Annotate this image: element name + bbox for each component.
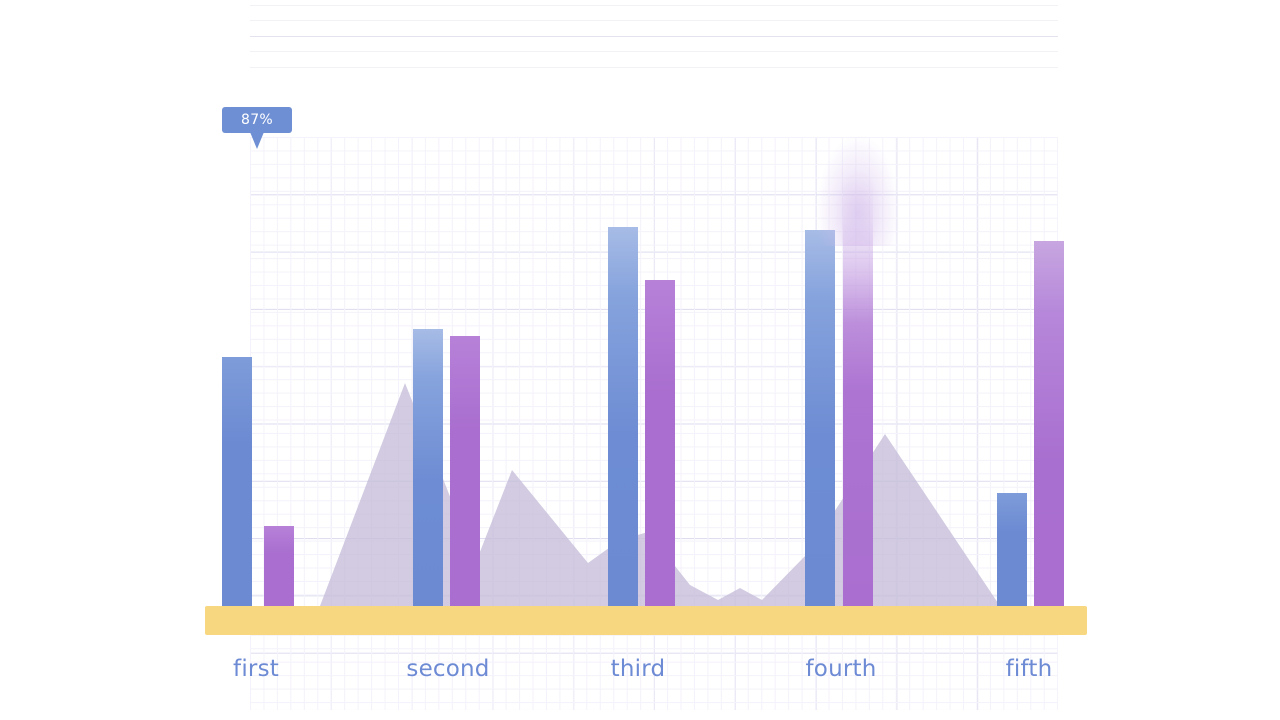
x-axis-label-first: first [233,656,279,682]
top-gridline [250,51,1058,52]
x-axis-label-fourth: fourth [806,656,877,682]
top-gridline [250,5,1058,6]
bar-fourth-blue[interactable] [805,230,835,606]
top-gridline [250,67,1058,68]
top-gridlines [250,0,1058,80]
x-axis-labels: firstsecondthirdfourthfifth [0,656,1280,696]
bar-fifth-blue[interactable] [997,493,1027,606]
bar-second-purple[interactable] [450,336,480,606]
bar-fifth-purple[interactable] [1034,241,1064,606]
x-axis-label-third: third [611,656,666,682]
bar-first-blue[interactable] [222,357,252,606]
chart-canvas: firstsecondthirdfourthfifth 87% [0,0,1280,720]
top-gridline [250,36,1058,37]
value-tooltip[interactable]: 87% [222,107,292,133]
bar-third-blue[interactable] [608,227,638,606]
bar-first-purple[interactable] [264,526,294,606]
bar-third-purple[interactable] [645,280,675,606]
tooltip-value: 87% [241,112,273,128]
bar-fourth-purple[interactable] [843,178,873,606]
bar-second-blue[interactable] [413,329,443,606]
x-axis-label-second: second [406,656,489,682]
top-gridline [250,20,1058,21]
x-axis-label-fifth: fifth [1006,656,1053,682]
baseline-band [205,606,1087,635]
tooltip-pointer-icon [250,132,264,149]
